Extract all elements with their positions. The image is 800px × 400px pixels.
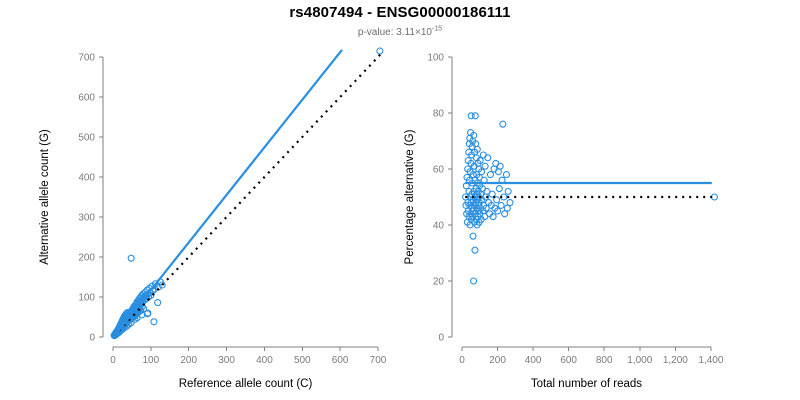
data-point — [472, 113, 478, 119]
y-tick-label: 80 — [433, 109, 445, 120]
x-tick-label: 400 — [256, 355, 273, 366]
plot-percentage-alternative: 02040608010002004006008001,0001,2001,400… — [400, 40, 800, 400]
y-axis-title: Alternative allele count (G) — [39, 129, 51, 265]
x-tick-label: 0 — [110, 355, 116, 366]
data-point — [155, 300, 161, 306]
data-point — [487, 172, 493, 178]
x-tick-label: 200 — [489, 355, 506, 366]
y-tick-label: 0 — [438, 333, 444, 344]
x-tick-label: 100 — [143, 355, 160, 366]
data-point — [493, 160, 499, 166]
data-point — [507, 200, 513, 206]
y-tick-label: 600 — [78, 93, 95, 104]
data-points — [111, 48, 383, 339]
data-point — [472, 247, 478, 253]
figure-title: rs4807494 - ENSG00000186111 — [0, 4, 800, 21]
data-point — [151, 319, 157, 325]
y-axis-title: Percentage alternative (G) — [404, 129, 416, 264]
data-point — [505, 188, 511, 194]
y-tick-label: 60 — [433, 165, 445, 176]
panel-percentage-alternative: 02040608010002004006008001,0001,2001,400… — [400, 40, 800, 400]
figure-subtitle: p-value: 3.11×10-15 — [0, 27, 800, 38]
data-point — [503, 172, 509, 178]
x-tick-label: 500 — [294, 355, 311, 366]
x-tick-label: 1,200 — [663, 355, 688, 366]
x-tick-label: 1,000 — [627, 355, 652, 366]
y-tick-label: 500 — [78, 133, 95, 144]
pvalue-text: p-value: 3.11×10 — [358, 27, 432, 38]
data-point — [482, 163, 488, 169]
x-tick-label: 800 — [596, 355, 613, 366]
fit-line — [114, 50, 342, 336]
data-point — [377, 48, 383, 54]
data-point — [498, 202, 504, 208]
data-point — [485, 155, 491, 161]
data-point — [470, 233, 476, 239]
figure-root: rs4807494 - ENSG00000186111 p-value: 3.1… — [0, 0, 800, 400]
x-tick-label: 0 — [459, 355, 465, 366]
y-tick-label: 300 — [78, 213, 95, 224]
x-tick-label: 300 — [218, 355, 235, 366]
data-point — [497, 163, 503, 169]
data-point — [496, 186, 502, 192]
y-tick-label: 40 — [433, 221, 445, 232]
x-tick-label: 600 — [332, 355, 349, 366]
data-point — [500, 121, 506, 127]
panel-allele-counts: 0100200300400500600700010020030040050060… — [0, 40, 400, 400]
x-axis-title: Total number of reads — [531, 378, 642, 390]
x-tick-label: 700 — [370, 355, 387, 366]
x-tick-label: 400 — [525, 355, 542, 366]
x-tick-label: 600 — [560, 355, 577, 366]
y-tick-label: 700 — [78, 53, 95, 64]
pvalue-exponent: -15 — [432, 26, 442, 33]
data-points — [463, 113, 718, 284]
x-tick-label: 1,400 — [698, 355, 723, 366]
y-tick-label: 200 — [78, 253, 95, 264]
y-tick-label: 400 — [78, 173, 95, 184]
x-axis-title: Reference allele count (C) — [179, 378, 313, 390]
y-tick-label: 0 — [89, 333, 95, 344]
y-tick-label: 20 — [433, 277, 445, 288]
y-tick-label: 100 — [78, 293, 95, 304]
y-tick-label: 100 — [427, 53, 444, 64]
data-point — [471, 278, 477, 284]
data-point — [128, 255, 134, 261]
data-point — [711, 194, 717, 200]
plot-allele-counts: 0100200300400500600700010020030040050060… — [0, 40, 400, 400]
x-tick-label: 200 — [180, 355, 197, 366]
